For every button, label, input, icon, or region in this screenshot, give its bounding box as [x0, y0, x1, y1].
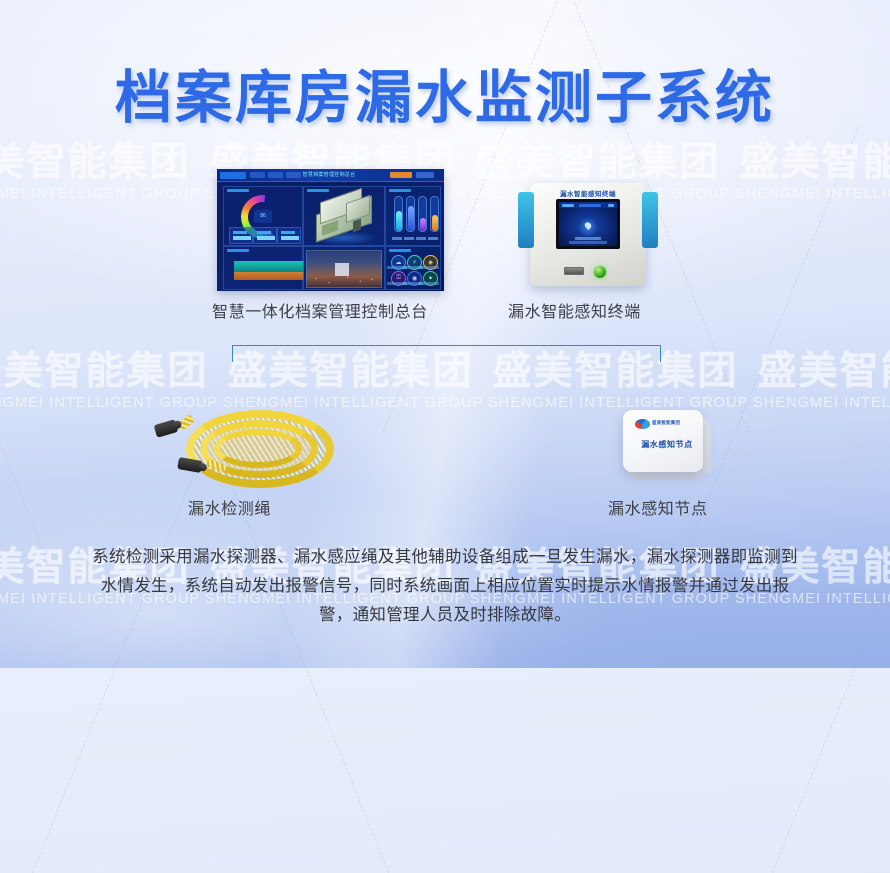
gauge-value: 86 — [254, 210, 272, 223]
terminal-device-label: 漏水智能感知终端 — [512, 188, 664, 198]
caption-node: 漏水感知节点 — [608, 495, 708, 519]
caption-console: 智慧一体化档案管理控制总台 — [212, 298, 428, 322]
tube-bar-4 — [430, 196, 439, 232]
caption-rope: 漏水检测绳 — [188, 495, 271, 519]
watermark-cn: 盛美智能集团 — [470, 143, 725, 182]
caption-terminal: 漏水智能感知终端 — [508, 298, 641, 322]
decorative-bracket — [232, 345, 661, 362]
terminal-screen-text — [575, 237, 601, 240]
trend-wave-chart — [234, 261, 304, 281]
panel-title-bar — [389, 249, 411, 252]
dash-line — [772, 437, 890, 873]
watermark: 盛美智能集团SHENGMEI INTELLIGENT GROUP — [753, 352, 890, 411]
leak-sensor-node-image: 盛美智能集团 漏水感知节点 — [619, 410, 715, 494]
terminal-screen[interactable] — [556, 199, 620, 249]
panel-title-bar — [227, 189, 249, 192]
watermark-en: SHENGMEI INTELLIGENT GROUP — [488, 395, 743, 411]
tube-bar-2 — [406, 196, 415, 232]
gauge-stat-2 — [253, 227, 277, 244]
watermark: 盛美智能集团SHENGMEI INTELLIGENT GROUP — [735, 143, 890, 202]
dashboard-panel-camera — [303, 246, 385, 290]
dashboard-panel-trend — [223, 246, 303, 290]
watermark-en: SHENGMEI INTELLIGENT GROUP — [753, 395, 890, 411]
dash-line — [0, 127, 49, 563]
gauge-stat-3 — [277, 227, 301, 244]
terminal-device-image: 漏水智能感知终端 — [512, 183, 664, 289]
dashboard-panel-functions: ☁ ⚡ ◈ ⚿ ◉ ✦ — [385, 246, 441, 290]
terminal-fin-left — [518, 192, 534, 248]
brand-logo-text: 盛美智能集团 — [652, 420, 680, 426]
rope-connector-1 — [154, 419, 179, 438]
watermark: 盛美智能集团SHENGMEI INTELLIGENT GROUP — [0, 143, 195, 202]
cube-front-face: 盛美智能集团 漏水感知节点 — [623, 410, 703, 472]
tube-bar-1 — [394, 196, 403, 232]
tube-bar-3 — [418, 196, 427, 232]
terminal-screen-ui — [559, 202, 617, 246]
terminal-fin-right — [642, 192, 658, 248]
dash-line — [32, 437, 209, 873]
rope-coil-inner — [214, 429, 302, 468]
panel-title-bar — [389, 189, 411, 192]
dashboard-panel-environment: 86 — [223, 186, 303, 246]
watermark-en: SHENGMEI INTELLIGENT GROUP — [0, 186, 195, 202]
terminal-power-led[interactable] — [594, 266, 606, 278]
camera-feed — [306, 250, 382, 288]
dash-line — [682, 127, 859, 563]
console-dashboard-image: 智慧档案管理控制总台 86 — [217, 169, 444, 291]
watermark-cn: 盛美智能集团 — [0, 352, 213, 391]
terminal-screen-chip-1 — [562, 204, 574, 207]
terminal-screen-chip-2 — [579, 204, 601, 207]
dashboard-header-bar: 智慧档案管理控制总台 — [217, 169, 444, 182]
leak-detection-rope-image — [150, 404, 340, 490]
dashboard-panel-model — [303, 186, 385, 246]
gauge-stat-1 — [229, 227, 253, 244]
page-title: 档案库房漏水监测子系统 — [0, 52, 890, 134]
description-paragraph: 系统检测采用漏水探测器、漏水感应绳及其他辅助设备组成一旦发生漏水，漏水探测器即监… — [92, 543, 798, 630]
watermark-cn: 盛美智能集团 — [735, 143, 890, 182]
dashboard-title: 智慧档案管理控制总台 — [279, 171, 379, 179]
dashboard-logo — [220, 172, 246, 179]
dashboard-user-chip — [416, 172, 434, 178]
brand-logo-icon — [635, 419, 650, 429]
terminal-screen-footer — [569, 241, 607, 244]
terminal-screen-chip-3 — [608, 204, 614, 207]
watermark-cn: 盛美智能集团 — [0, 143, 195, 182]
watermark-en: SHENGMEI INTELLIGENT GROUP — [735, 186, 890, 202]
dashboard-panel-devices — [385, 186, 441, 246]
node-device-label: 漏水感知节点 — [623, 439, 711, 450]
dashboard-alert-chip — [390, 172, 412, 178]
terminal-port — [564, 267, 584, 275]
watermark-cn: 盛美智能集团 — [753, 352, 890, 391]
panel-title-bar — [227, 249, 249, 252]
building-3d-model — [306, 189, 382, 247]
dashboard-nav-1 — [250, 172, 265, 178]
watermark: 盛美智能集团SHENGMEI INTELLIGENT GROUP — [0, 352, 213, 411]
